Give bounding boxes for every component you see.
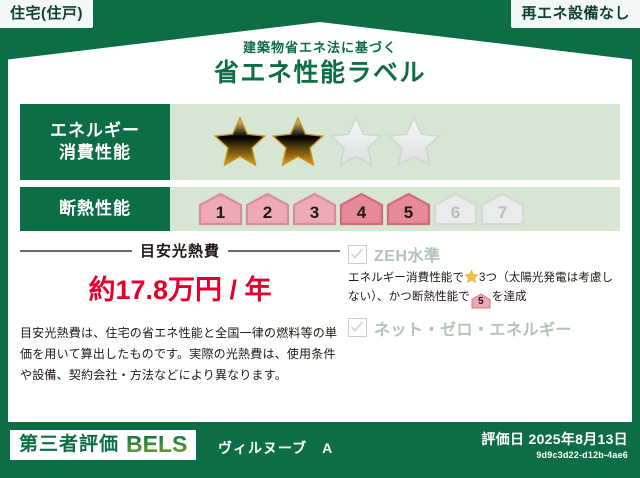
energy-performance-row: エネルギー 消費性能 xyxy=(20,104,620,180)
title-subtitle: 建築物省エネ法に基づく xyxy=(0,40,640,56)
zeh-net-zero-checkbox[interactable] xyxy=(348,318,367,337)
utility-cost-heading: 目安光熱費 xyxy=(20,240,340,261)
insulation-performance-value: 1234567 xyxy=(170,187,620,231)
zeh-description: エネルギー消費性能で 3つ（太陽光発電は考慮しない）、かつ断熱性能で 5 を達成 xyxy=(348,269,620,309)
utility-cost-heading-text: 目安光熱費 xyxy=(140,240,220,261)
insulation-label-text: 断熱性能 xyxy=(59,198,131,220)
bels-energy-label: 住宅(住戸) 再エネ設備なし 建築物省エネ法に基づく 省エネ性能ラベル エネルギ… xyxy=(0,0,640,478)
insulation-chip-active: 3 xyxy=(292,192,337,226)
inline-star-icon xyxy=(464,269,479,284)
insulation-chip-value: 6 xyxy=(451,204,460,224)
property-name: ヴィルヌーブ A xyxy=(218,438,333,458)
third-party-eval-text: 第三者評価 xyxy=(19,435,119,454)
title-main: 省エネ性能ラベル xyxy=(0,60,640,88)
insulation-chip-active: 5 xyxy=(386,192,431,226)
zeh-standard-checkbox[interactable] xyxy=(348,245,367,264)
zeh-net-zero-line: ネット・ゼロ・エネルギー xyxy=(348,316,620,340)
insulation-chip-active: 1 xyxy=(198,192,243,226)
zeh-desc-pre: エネルギー消費性能で xyxy=(348,272,464,284)
insulation-chip-inactive: 7 xyxy=(480,192,525,226)
label-content: エネルギー 消費性能 断熱性能 1234567 目安光熱費 xyxy=(20,104,620,416)
energy-label-line2: 消費性能 xyxy=(59,142,131,164)
evaluation-info: 評価日 2025年8月13日 9d9c3d22-d12b-4ae6 xyxy=(481,431,628,460)
insulation-chip-value: 5 xyxy=(404,204,413,224)
insulation-chip-value: 1 xyxy=(216,204,225,224)
lower-section: 目安光熱費 約17.8万円 / 年 目安光熱費は、住宅の省エネ性能と全国一律の燃… xyxy=(20,240,620,386)
insulation-performance-label: 断熱性能 xyxy=(20,187,170,231)
evaluation-date: 評価日 2025年8月13日 xyxy=(481,431,628,448)
rule-right xyxy=(228,250,340,252)
label-title-block: 建築物省エネ法に基づく 省エネ性能ラベル xyxy=(0,40,640,87)
star-empty-icon xyxy=(328,115,384,169)
insulation-chip-active: 2 xyxy=(245,192,290,226)
rule-left xyxy=(20,250,132,252)
label-footer: 第三者評価 BELS ヴィルヌーブ A 評価日 2025年8月13日 9d9c3… xyxy=(0,422,640,478)
utility-cost-value: 約17.8万円 / 年 xyxy=(20,268,340,307)
star-empty-icon xyxy=(386,115,442,169)
insulation-chip-inactive: 6 xyxy=(433,192,478,226)
utility-cost-note: 目安光熱費は、住宅の省エネ性能と全国一律の燃料等の単価を用いて算出したものです。… xyxy=(20,323,340,386)
bels-logo-plate: 第三者評価 BELS xyxy=(10,430,196,460)
insulation-chip-value: 4 xyxy=(357,204,366,224)
inline-chip-value: 5 xyxy=(471,293,491,311)
star-filled-icon xyxy=(270,115,326,169)
insulation-performance-row: 断熱性能 1234567 xyxy=(20,187,620,231)
energy-label-line1: エネルギー xyxy=(50,120,140,142)
zeh-net-zero-label: ネット・ゼロ・エネルギー xyxy=(374,316,572,340)
star-rating xyxy=(212,115,442,169)
utility-cost-section: 目安光熱費 約17.8万円 / 年 目安光熱費は、住宅の省エネ性能と全国一律の燃… xyxy=(20,240,340,386)
insulation-chip-value: 2 xyxy=(263,204,272,224)
zeh-section: ZEH水準 エネルギー消費性能で 3つ（太陽光発電は考慮しない）、かつ断熱性能で… xyxy=(340,240,620,386)
star-filled-icon xyxy=(212,115,268,169)
evaluation-date-value: 2025年8月13日 xyxy=(528,431,628,447)
badge-renewable-status: 再エネ設備なし xyxy=(511,0,640,28)
bels-wordmark: BELS xyxy=(126,433,187,456)
energy-performance-label: エネルギー 消費性能 xyxy=(20,104,170,180)
zeh-desc-post: を達成 xyxy=(492,291,527,303)
inline-insulation-chip: 5 xyxy=(471,293,491,309)
badge-building-type: 住宅(住戸) xyxy=(0,0,93,28)
zeh-standard-line: ZEH水準 xyxy=(348,242,620,266)
energy-performance-value xyxy=(170,104,620,180)
insulation-level-chips: 1234567 xyxy=(198,192,525,226)
evaluation-date-label: 評価日 xyxy=(481,431,524,447)
evaluation-id: 9d9c3d22-d12b-4ae6 xyxy=(481,450,628,460)
insulation-chip-value: 3 xyxy=(310,204,319,224)
insulation-chip-active: 4 xyxy=(339,192,384,226)
insulation-chip-value: 7 xyxy=(498,204,507,224)
zeh-standard-label: ZEH水準 xyxy=(374,242,441,266)
